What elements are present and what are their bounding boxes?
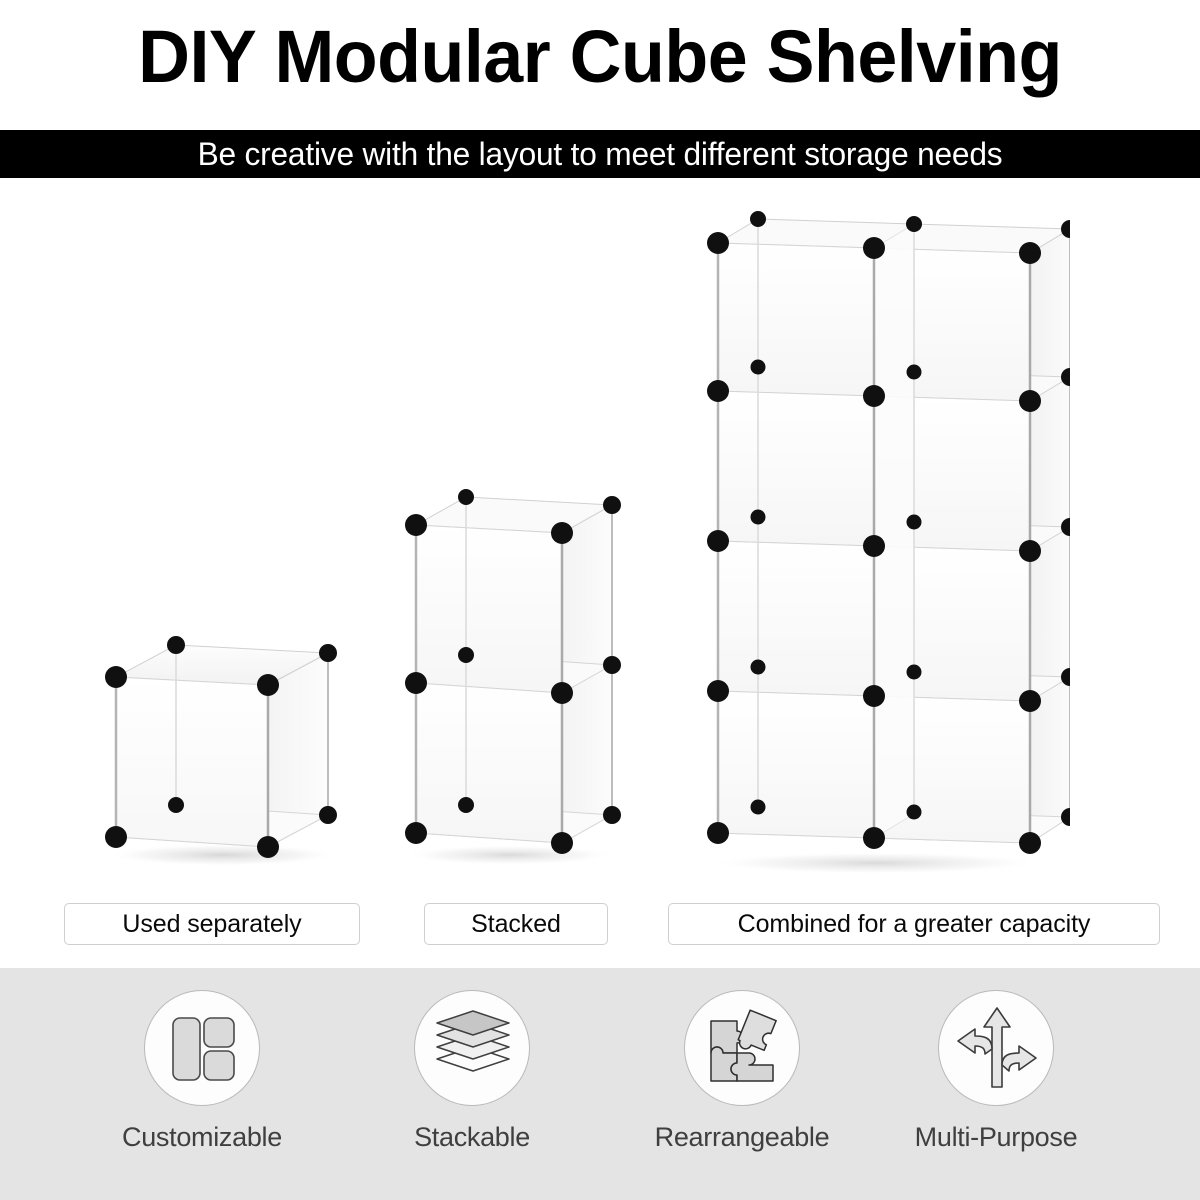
caption-used-separately: Used separately	[64, 903, 360, 945]
puzzle-pieces-icon	[685, 991, 801, 1107]
feature-label: Customizable	[82, 1122, 322, 1153]
feature-icon-circle	[414, 990, 530, 1106]
feature-label: Rearrangeable	[622, 1122, 862, 1153]
grid-layout-icon	[145, 991, 261, 1107]
caption-stacked: Stacked	[424, 903, 608, 945]
feature-label: Stackable	[352, 1122, 592, 1153]
feature-icon-circle	[684, 990, 800, 1106]
subtitle-text: Be creative with the layout to meet diff…	[6, 130, 1194, 178]
feature-strip: Customizable Stackable	[0, 968, 1200, 1200]
feature-label: Multi-Purpose	[876, 1122, 1116, 1153]
feature-icon-circle	[938, 990, 1054, 1106]
subtitle-banner: Be creative with the layout to meet diff…	[0, 130, 1200, 178]
feature-icon-circle	[144, 990, 260, 1106]
page-title: DIY Modular Cube Shelving	[18, 14, 1182, 100]
feature-item-rearrangeable: Rearrangeable	[622, 990, 862, 1153]
feature-item-customizable: Customizable	[82, 990, 322, 1153]
feature-item-multipurpose: Multi-Purpose	[876, 990, 1116, 1153]
three-way-arrow-icon	[939, 991, 1055, 1107]
product-showcase	[0, 185, 1200, 903]
layers-stack-icon	[415, 991, 531, 1107]
product-unit-single-cube	[88, 625, 358, 870]
product-unit-combined-cubes	[690, 195, 1070, 875]
feature-item-stackable: Stackable	[352, 990, 592, 1153]
product-unit-stacked-cubes	[390, 475, 640, 870]
product-infographic: DIY Modular Cube Shelving Be creative wi…	[0, 0, 1200, 1200]
caption-combined-capacity: Combined for a greater capacity	[668, 903, 1160, 945]
